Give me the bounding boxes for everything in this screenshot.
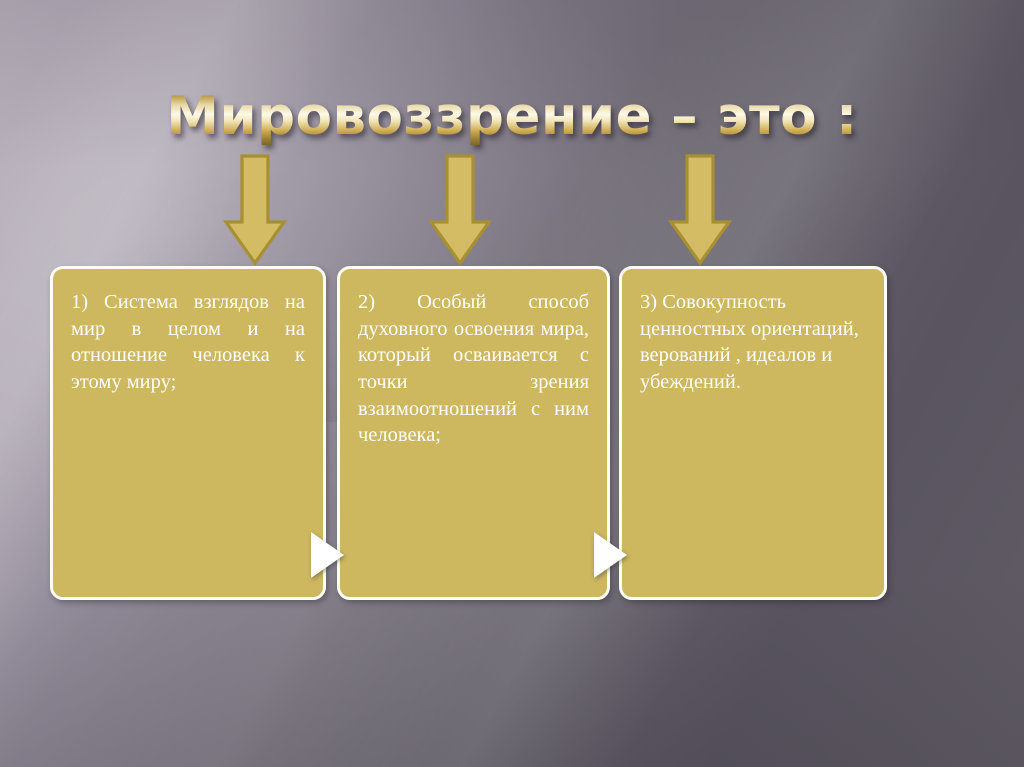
arrow-down-icon-1 (223, 154, 287, 266)
definition-box-1-text: 1) Система взглядов на мир в целом и на … (53, 269, 323, 396)
connector-arrow-icon-1 (311, 532, 344, 578)
arrow-down-icon-2 (428, 154, 492, 266)
arrow-down-icon-3 (668, 154, 732, 266)
definition-box-2-text: 2) Особый способ духовного освоения мира… (340, 269, 607, 449)
definition-box-3-text: 3) Совокупность ценностных ориентаций, в… (622, 269, 884, 396)
page-title: Мировоззрение – это : (0, 88, 1024, 146)
connector-arrow-icon-2 (594, 532, 627, 578)
definition-box-2[interactable]: 2) Особый способ духовного освоения мира… (337, 266, 610, 600)
definition-box-1[interactable]: 1) Система взглядов на мир в целом и на … (50, 266, 326, 600)
definition-box-3[interactable]: 3) Совокупность ценностных ориентаций, в… (619, 266, 887, 600)
slide-canvas: Мировоззрение – это : 1) Система взглядо… (0, 0, 1024, 767)
